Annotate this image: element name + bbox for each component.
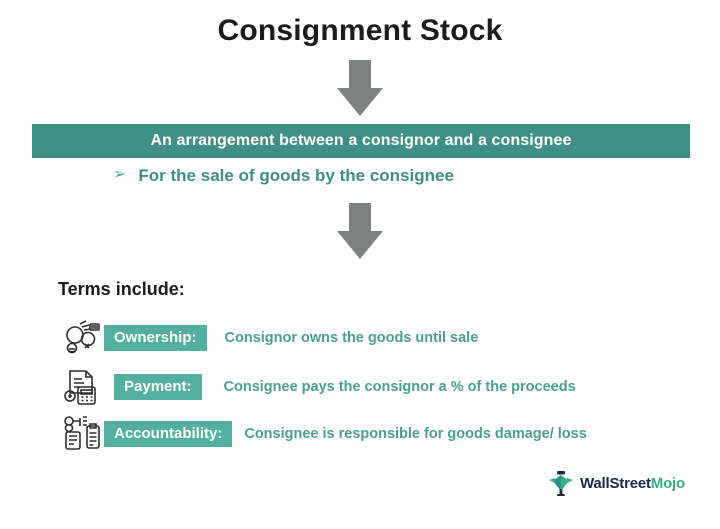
term-row: Accountability: Consignee is responsible… bbox=[58, 412, 587, 456]
logo-text-accent: Mojo bbox=[651, 475, 685, 492]
infographic-canvas: Consignment Stock An arrangement between… bbox=[0, 0, 720, 529]
term-label-ownership: Ownership: bbox=[104, 325, 207, 351]
logo-text-primary: WallStreet bbox=[580, 475, 651, 492]
term-description-payment: Consignee pays the consignor a % of the … bbox=[224, 379, 576, 395]
term-row: Payment: Consignee pays the consignor a … bbox=[58, 365, 576, 409]
definition-banner-text: An arrangement between a consignor and a… bbox=[150, 132, 571, 150]
ownership-handshake-icon bbox=[58, 316, 104, 360]
term-description-ownership: Consignor owns the goods until sale bbox=[225, 330, 479, 346]
term-label-payment: Payment: bbox=[114, 374, 202, 400]
invoice-calculator-icon bbox=[58, 365, 104, 409]
arrow-head bbox=[337, 231, 383, 259]
arrow-head bbox=[337, 88, 383, 116]
wallstreetmojo-tree-icon bbox=[548, 470, 574, 496]
logo-text: WallStreetMojo bbox=[580, 475, 685, 492]
sub-bullet-text: For the sale of goods by the consignee bbox=[138, 166, 454, 186]
wallstreetmojo-logo: WallStreetMojo bbox=[548, 470, 685, 496]
sub-bullet-row: ➢ For the sale of goods by the consignee bbox=[113, 166, 454, 186]
arrowhead-bullet-icon: ➢ bbox=[113, 167, 126, 183]
definition-banner: An arrangement between a consignor and a… bbox=[32, 124, 690, 158]
down-arrow-icon bbox=[337, 60, 383, 116]
term-description-accountability: Consignee is responsible for goods damag… bbox=[244, 426, 586, 442]
arrow-shaft bbox=[349, 203, 371, 233]
arrow-shaft bbox=[349, 60, 371, 90]
checklist-clipboard-icon bbox=[58, 412, 104, 456]
page-title: Consignment Stock bbox=[0, 14, 720, 48]
term-label-accountability: Accountability: bbox=[104, 421, 232, 447]
down-arrow-icon bbox=[337, 203, 383, 259]
terms-heading: Terms include: bbox=[58, 279, 185, 300]
term-row: Ownership: Consignor owns the goods unti… bbox=[58, 316, 478, 360]
